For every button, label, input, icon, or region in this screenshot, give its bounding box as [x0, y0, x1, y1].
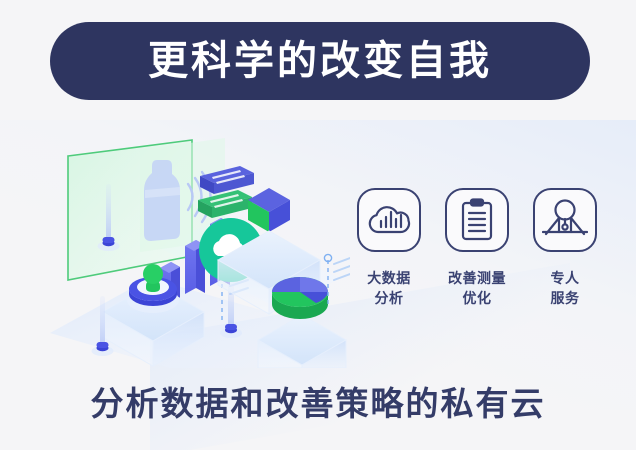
green-pushpin: [127, 264, 179, 313]
support-agent-icon: [533, 188, 597, 252]
hero-illustration: [40, 128, 350, 368]
feature-label: 改善测量 优化: [448, 268, 506, 308]
feature-dedicated-service[interactable]: 专人 服务: [528, 188, 602, 308]
pedestal-left: [102, 283, 204, 366]
feature-label: 专人 服务: [551, 268, 580, 308]
pedestal-right: [218, 231, 320, 314]
pie-chart-3d: [272, 277, 328, 319]
feature-big-data-analysis[interactable]: 大数据 分析: [352, 188, 426, 308]
page-tagline: 分析数据和改善策略的私有云: [0, 386, 636, 422]
data-cube: [248, 188, 290, 232]
cloud-badge: [199, 218, 263, 338]
wifi-waves-icon: [188, 172, 211, 222]
cloud-bar-chart-icon: [357, 188, 421, 252]
pedestal-far-right: [258, 315, 346, 368]
header-banner: 更科学的改变自我: [50, 22, 590, 100]
feature-label: 大数据 分析: [367, 268, 411, 308]
banner-page: 更科学的改变自我: [0, 0, 636, 450]
label-card-blue: [200, 166, 254, 194]
bottle-shape: [144, 160, 180, 241]
clipboard-lines-icon: [445, 188, 509, 252]
page-title: 更科学的改变自我: [148, 41, 492, 81]
feature-list: 大数据 分析 改善测量 优化: [352, 188, 602, 308]
feature-improvement-measurement[interactable]: 改善测量 优化: [440, 188, 514, 308]
ground-pin-left: [92, 296, 114, 356]
panel-pin: [98, 184, 120, 251]
illustration-ground: [50, 220, 340, 368]
dashed-connector-left: [218, 270, 248, 324]
dashed-connector-right: [324, 254, 350, 306]
label-card-green: [198, 190, 252, 218]
green-panel: [68, 138, 225, 280]
bar-chart-3d: [160, 218, 230, 302]
